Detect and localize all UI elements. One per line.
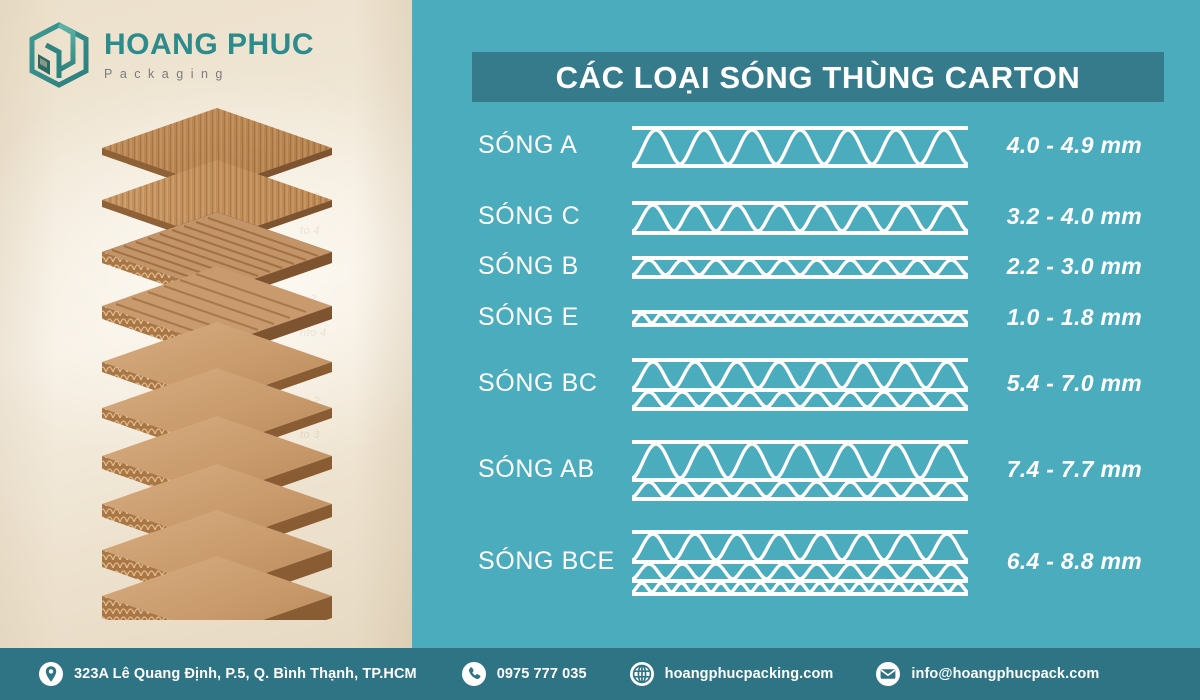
brand-wordmark: HOANG PHUC Packaging <box>104 30 314 81</box>
flute-label: SÓNG BC <box>478 369 598 398</box>
isometric-box-logo-icon <box>28 22 90 88</box>
footer-website[interactable]: hoangphucpacking.com <box>629 661 834 687</box>
footer-address[interactable]: 323A Lê Quang Định, P.5, Q. Bình Thạnh, … <box>38 661 417 687</box>
flute-label: SÓNG B <box>478 252 579 281</box>
footer-email[interactable]: info@hoangphucpack.com <box>875 661 1099 687</box>
corrugated-stack-illustration <box>92 100 342 620</box>
brand-name: HOANG PHUC <box>104 30 314 60</box>
flute-profile-graphic <box>632 358 968 416</box>
envelope-icon <box>875 661 901 687</box>
flute-thickness: 7.4 - 7.7 mm <box>1007 456 1142 483</box>
brand-tagline: Packaging <box>104 67 314 81</box>
left-illustration-panel: to 3to 4to 1o 2nto 4o 4to 2to 3: 6 <box>0 0 412 648</box>
brand-logo: HOANG PHUC Packaging <box>28 22 314 88</box>
flute-thickness: 4.0 - 4.9 mm <box>1007 132 1142 159</box>
flute-label: SÓNG BCE <box>478 547 615 576</box>
flute-thickness: 6.4 - 8.8 mm <box>1007 548 1142 575</box>
flute-thickness: 2.2 - 3.0 mm <box>1007 253 1142 280</box>
flute-thickness: 5.4 - 7.0 mm <box>1007 370 1142 397</box>
flute-profile-graphic <box>632 126 968 173</box>
flute-label: SÓNG C <box>478 202 580 231</box>
globe-icon <box>629 661 655 687</box>
flute-profile-graphic <box>632 530 968 601</box>
flute-thickness: 1.0 - 1.8 mm <box>1007 304 1142 331</box>
location-pin-icon <box>38 661 64 687</box>
footer-address-text: 323A Lê Quang Định, P.5, Q. Bình Thạnh, … <box>74 666 417 682</box>
phone-icon <box>461 661 487 687</box>
flute-label: SÓNG AB <box>478 455 595 484</box>
flute-profile-graphic <box>632 440 968 506</box>
page-title: CÁC LOẠI SÓNG THÙNG CARTON <box>556 62 1081 93</box>
footer-email-text: info@hoangphucpack.com <box>911 666 1099 682</box>
flute-profile-graphic <box>632 256 968 284</box>
flute-thickness: 3.2 - 4.0 mm <box>1007 203 1142 230</box>
flute-profile-graphic <box>632 201 968 240</box>
footer-phone-text: 0975 777 035 <box>497 666 587 682</box>
footer-website-text: hoangphucpacking.com <box>665 666 834 682</box>
flute-profile-graphic <box>632 310 968 332</box>
infographic-page: to 3to 4to 1o 2nto 4o 4to 2to 3: 6 <box>0 0 1200 700</box>
flute-types-panel: CÁC LOẠI SÓNG THÙNG CARTON SÓNG A4.0 - 4… <box>412 0 1200 648</box>
footer-contact-bar: 323A Lê Quang Định, P.5, Q. Bình Thạnh, … <box>0 648 1200 700</box>
page-title-band: CÁC LOẠI SÓNG THÙNG CARTON <box>472 52 1164 102</box>
footer-phone[interactable]: 0975 777 035 <box>461 661 587 687</box>
flute-label: SÓNG E <box>478 303 579 332</box>
flute-label: SÓNG A <box>478 131 577 160</box>
